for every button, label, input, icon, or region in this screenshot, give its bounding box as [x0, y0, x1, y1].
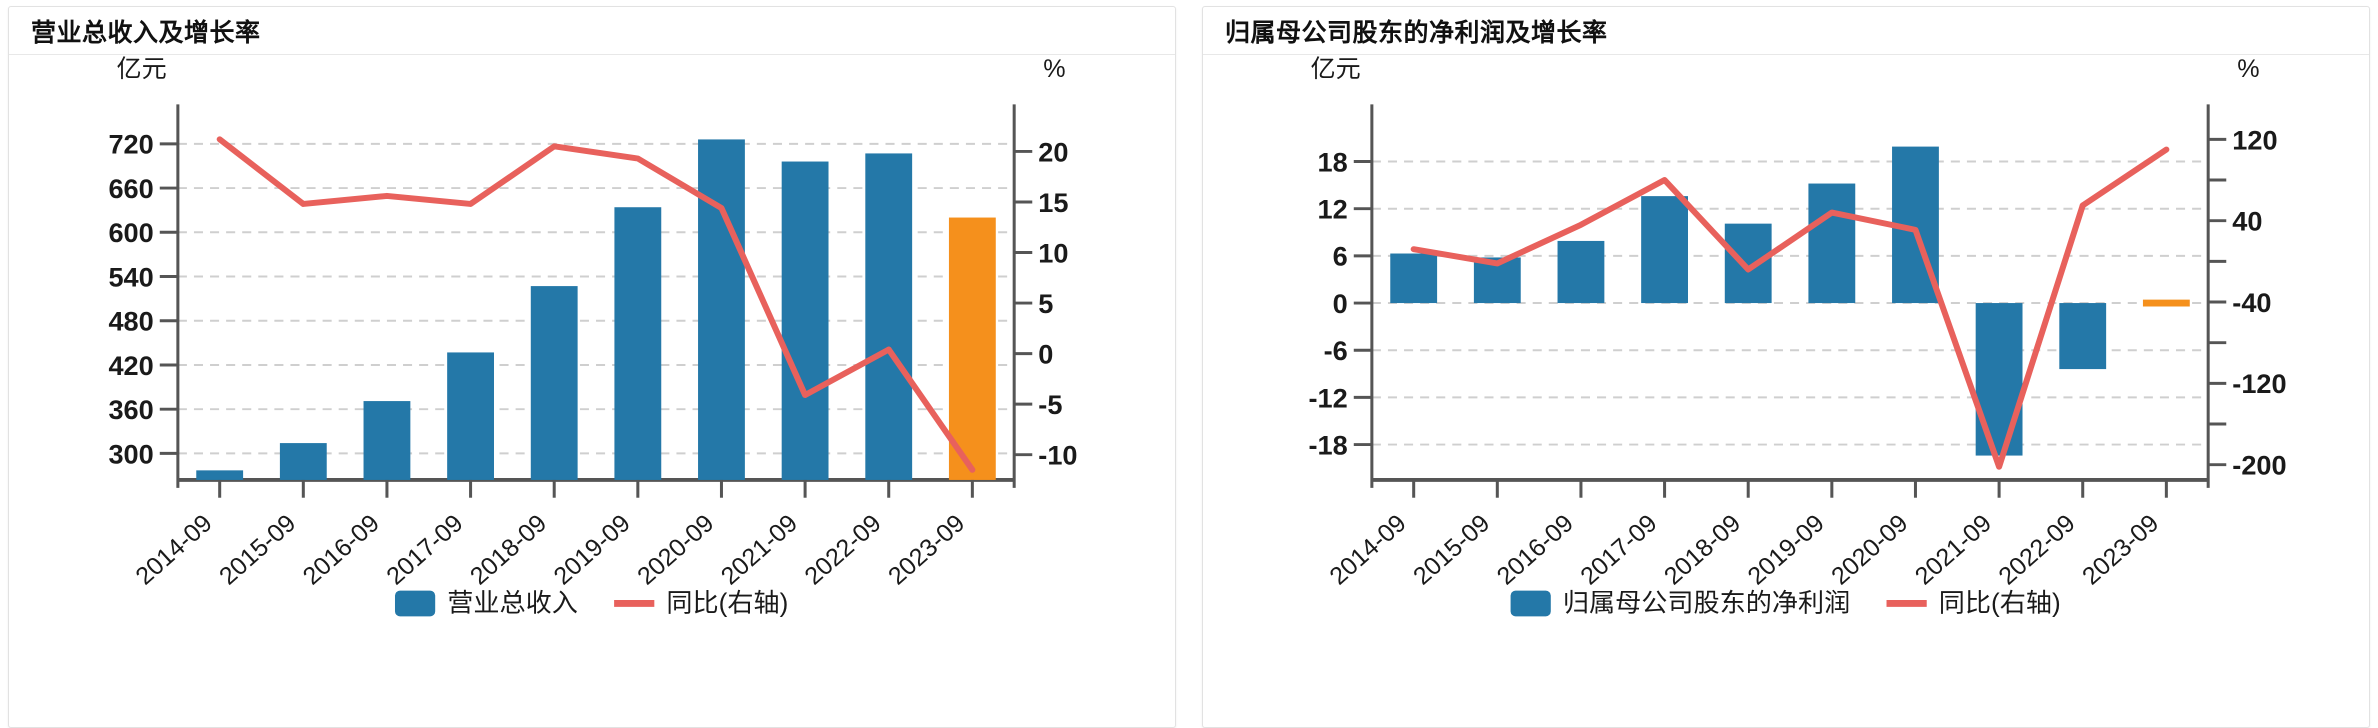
y-tick-label-right: 5 — [1038, 289, 1053, 319]
y-tick-label-left: 540 — [108, 263, 153, 293]
y-tick-label-left: 600 — [108, 218, 153, 248]
bar[interactable] — [1390, 254, 1437, 304]
x-tick-label: 2015-09 — [214, 509, 301, 590]
panel-net-profit: 归属母公司股东的净利润及增长率 181260-6-12-18亿元12040-40… — [1202, 6, 2370, 728]
bar[interactable] — [698, 139, 745, 480]
line-series-last-segment[interactable] — [2083, 150, 2167, 206]
bar[interactable] — [1558, 241, 1605, 303]
chart-net-profit[interactable]: 181260-6-12-18亿元12040-40-120-200%2014-09… — [1203, 55, 2369, 727]
y-tick-label-right: -120 — [2232, 369, 2286, 399]
y-tick-label-left: -6 — [1324, 336, 1348, 366]
x-tick-label: 2014-09 — [130, 509, 217, 590]
y-tick-label-right: 0 — [1038, 340, 1053, 370]
bar[interactable] — [1725, 224, 1772, 303]
bar[interactable] — [196, 470, 243, 480]
x-tick-label: 2018-09 — [1659, 509, 1746, 590]
y-tick-label-right: 10 — [1038, 239, 1068, 269]
page-title-secondary: 归属母公司股东的净利润及增长率 — [1225, 13, 1608, 49]
y-tick-label-left: 0 — [1333, 289, 1348, 319]
bar[interactable] — [782, 162, 829, 480]
y-tick-label-right: 15 — [1038, 188, 1068, 218]
y-tick-label-left: 12 — [1318, 195, 1348, 225]
x-tick-label: 2023-09 — [2077, 509, 2164, 590]
y-axis-unit-left: 亿元 — [117, 55, 167, 83]
y-tick-label-right: 40 — [2232, 207, 2262, 237]
y-tick-label-left: -18 — [1309, 431, 1348, 461]
legend-label: 同比(右轴) — [666, 589, 788, 618]
y-tick-label-right: -200 — [2232, 451, 2286, 481]
chart-container-net-profit: 181260-6-12-18亿元12040-40-120-200%2014-09… — [1203, 55, 2369, 727]
y-axis-unit-right: % — [1043, 55, 1065, 83]
x-tick-label: 2018-09 — [465, 509, 552, 590]
panel-revenue: 营业总收入及增长率 720660600540480420360300亿元2015… — [8, 6, 1176, 728]
bar[interactable] — [949, 218, 996, 480]
legend: 营业总收入同比(右轴) — [395, 589, 788, 618]
x-tick-label: 2019-09 — [548, 509, 635, 590]
page-title: 营业总收入及增长率 — [31, 13, 261, 49]
bar[interactable] — [865, 153, 912, 480]
x-tick-label: 2017-09 — [381, 509, 468, 590]
legend-swatch-bar — [1511, 591, 1551, 617]
x-tick-label: 2022-09 — [799, 509, 886, 590]
x-tick-label: 2017-09 — [1575, 509, 1662, 590]
bar[interactable] — [364, 401, 411, 480]
y-tick-label-left: 6 — [1333, 242, 1348, 272]
y-tick-label-left: 360 — [108, 395, 153, 425]
chart-revenue[interactable]: 720660600540480420360300亿元20151050-5-10%… — [9, 55, 1175, 727]
x-tick-label: 2020-09 — [1826, 509, 1913, 590]
y-tick-label-left: -12 — [1309, 383, 1348, 413]
y-tick-label-right: -40 — [2232, 288, 2271, 318]
y-tick-label-left: 720 — [108, 130, 153, 160]
x-tick-label: 2021-09 — [1910, 509, 1997, 590]
y-tick-label-left: 300 — [108, 439, 153, 469]
x-tick-label: 2015-09 — [1408, 509, 1495, 590]
x-tick-label: 2016-09 — [1492, 509, 1579, 590]
y-tick-label-left: 18 — [1318, 148, 1348, 178]
x-tick-label: 2019-09 — [1742, 509, 1829, 590]
x-tick-label: 2022-09 — [1993, 509, 2080, 590]
y-axis-unit-right: % — [2237, 55, 2259, 83]
dashboard: 营业总收入及增长率 720660600540480420360300亿元2015… — [0, 0, 2378, 728]
y-tick-label-left: 660 — [108, 174, 153, 204]
y-axis-unit-left: 亿元 — [1311, 55, 1361, 83]
x-tick-label: 2016-09 — [298, 509, 385, 590]
x-tick-label: 2023-09 — [883, 509, 970, 590]
x-tick-label: 2014-09 — [1324, 509, 1411, 590]
x-tick-label: 2020-09 — [632, 509, 719, 590]
plot-area: 720660600540480420360300亿元20151050-5-10%… — [108, 55, 1077, 590]
legend-swatch-bar — [395, 591, 435, 617]
legend-label: 归属母公司股东的净利润 — [1563, 589, 1850, 618]
y-tick-label-left: 420 — [108, 351, 153, 381]
y-tick-label-right: 20 — [1038, 138, 1068, 168]
chart-container-revenue: 720660600540480420360300亿元20151050-5-10%… — [9, 55, 1175, 727]
y-tick-label-left: 480 — [108, 307, 153, 337]
panel-header-net-profit: 归属母公司股东的净利润及增长率 — [1203, 7, 2369, 55]
panel-header-revenue: 营业总收入及增长率 — [9, 7, 1175, 55]
x-tick-label: 2021-09 — [716, 509, 803, 590]
bar[interactable] — [1976, 303, 2023, 456]
y-tick-label-right: 120 — [2232, 125, 2277, 155]
y-tick-label-right: -5 — [1038, 390, 1062, 420]
legend-label: 同比(右轴) — [1939, 589, 2061, 618]
bar[interactable] — [1641, 196, 1688, 303]
legend-label: 营业总收入 — [447, 589, 578, 618]
bar[interactable] — [280, 443, 327, 480]
bar[interactable] — [2059, 303, 2106, 369]
bar[interactable] — [447, 352, 494, 480]
y-tick-label-right: -10 — [1038, 441, 1077, 471]
bar[interactable] — [1808, 184, 1855, 304]
plot-area: 181260-6-12-18亿元12040-40-120-200%2014-09… — [1309, 55, 2287, 590]
bar[interactable] — [531, 286, 578, 480]
bar[interactable] — [614, 207, 661, 480]
legend: 归属母公司股东的净利润同比(右轴) — [1511, 589, 2061, 618]
